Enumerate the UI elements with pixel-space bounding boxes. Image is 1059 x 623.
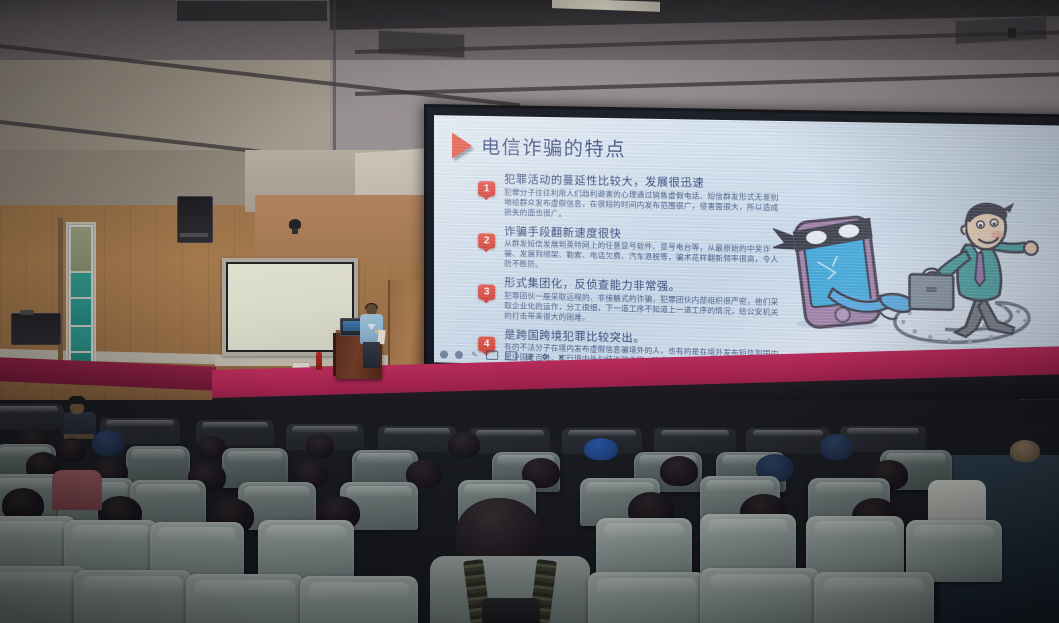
fullscreen-icon[interactable] [486, 351, 498, 360]
table-row [746, 428, 830, 454]
led-display: 电信诈骗的特点 1 犯罪活动的蔓延性比较大，发展很迅速 犯罪分子往往利用人们趋利… [424, 104, 1059, 388]
fire-extinguisher-icon [316, 352, 322, 370]
backpack [482, 598, 540, 623]
table-row [0, 404, 64, 430]
attendee-head [58, 438, 86, 462]
air-vent-icon [955, 16, 1047, 45]
seat [700, 514, 796, 576]
status-badge: 2 [478, 233, 495, 248]
bullet-body: 从群发短信发展到英特网上的任意显号软件、显号电台等，从最原始的中奖诈骗、发展到绑… [504, 239, 783, 275]
table-row [470, 428, 550, 454]
menu-icon[interactable]: ▤ [524, 352, 533, 361]
attendee-head [660, 456, 698, 486]
list-item: 3 形式集团化，反侦查能力非常强。 犯罪团伙一般采取远程的、非接触式的诈骗，犯罪… [478, 275, 783, 327]
window-pane [70, 298, 92, 326]
window-pane [70, 326, 92, 352]
window-pane [70, 226, 92, 272]
seat [74, 570, 192, 623]
attendee-head [92, 430, 124, 456]
masked-phone-catching-businessman-cartoon [773, 196, 1054, 364]
window-post [58, 218, 63, 378]
officer-cap [68, 396, 86, 404]
status-badge: 1 [478, 181, 495, 196]
list-item: 1 犯罪活动的蔓延性比较大，发展很迅速 犯罪分子往往利用人们趋利避害的心理通过销… [478, 172, 783, 223]
screenshot-root: 电信诈骗的特点 1 犯罪活动的蔓延性比较大，发展很迅速 犯罪分子往往利用人们趋利… [0, 0, 1059, 623]
seat [806, 516, 904, 578]
air-vent-icon [176, 0, 328, 22]
air-vent-icon [378, 30, 465, 59]
table-row [378, 426, 456, 452]
security-camera-icon [289, 219, 301, 229]
status-badge: 3 [478, 284, 495, 299]
wood-panel-highlight [255, 195, 445, 265]
page-title: 电信诈骗的特点 [481, 132, 626, 162]
pen-annotate-icon[interactable]: ✎ [470, 350, 479, 359]
seat [814, 572, 934, 623]
red-play-triangle-icon [452, 132, 472, 158]
wall-speaker-icon [177, 196, 213, 243]
status-badge: 4 [478, 336, 495, 351]
wall-speaker-icon [11, 313, 61, 345]
presenter [360, 304, 382, 366]
screen-icon[interactable] [505, 351, 517, 360]
attendee-head [584, 438, 618, 460]
seated-officer [62, 396, 98, 436]
attendee-shoulders [52, 470, 102, 510]
window-pane [70, 272, 92, 298]
officer-body [62, 412, 96, 438]
next-slide-icon[interactable] [455, 350, 463, 358]
slide-bullet-list: 1 犯罪活动的蔓延性比较大，发展很迅速 犯罪分子往往利用人们趋利避害的心理通过销… [478, 172, 783, 377]
seat [186, 574, 304, 623]
presenter-legs [363, 342, 380, 368]
bullet-body: 犯罪分子往往利用人们趋利避害的心理通过销售虚假电话、短信群发形式无差别地给群众发… [504, 187, 783, 223]
seat [300, 576, 418, 623]
attendee-head [448, 432, 480, 458]
seat [588, 572, 706, 623]
list-item: 2 诈骗手段翻新速度很快 从群发短信发展到英特网上的任意显号软件、显号电台等，从… [478, 224, 783, 276]
presentation-slide: 电信诈骗的特点 1 犯罪活动的蔓延性比较大，发展很迅速 犯罪分子往往利用人们趋利… [434, 115, 1059, 379]
attendee-head [1010, 440, 1040, 462]
seat [700, 568, 820, 623]
foreground-attendee-with-backpack [430, 498, 590, 623]
seat [258, 520, 354, 582]
attendee-head [306, 434, 334, 458]
bullet-body: 犯罪团伙一般采取远程的、非接触式的诈骗，犯罪团伙内部组织很严密，他们采取企业化的… [504, 291, 783, 328]
attendee-head [820, 434, 854, 460]
table-row [654, 428, 736, 454]
tall-teal-glass-window [66, 222, 96, 374]
seat [596, 518, 692, 580]
security-camera-icon [1008, 28, 1016, 38]
previous-slide-icon[interactable] [440, 350, 448, 358]
slide-title-row: 电信诈骗的特点 [452, 131, 626, 161]
